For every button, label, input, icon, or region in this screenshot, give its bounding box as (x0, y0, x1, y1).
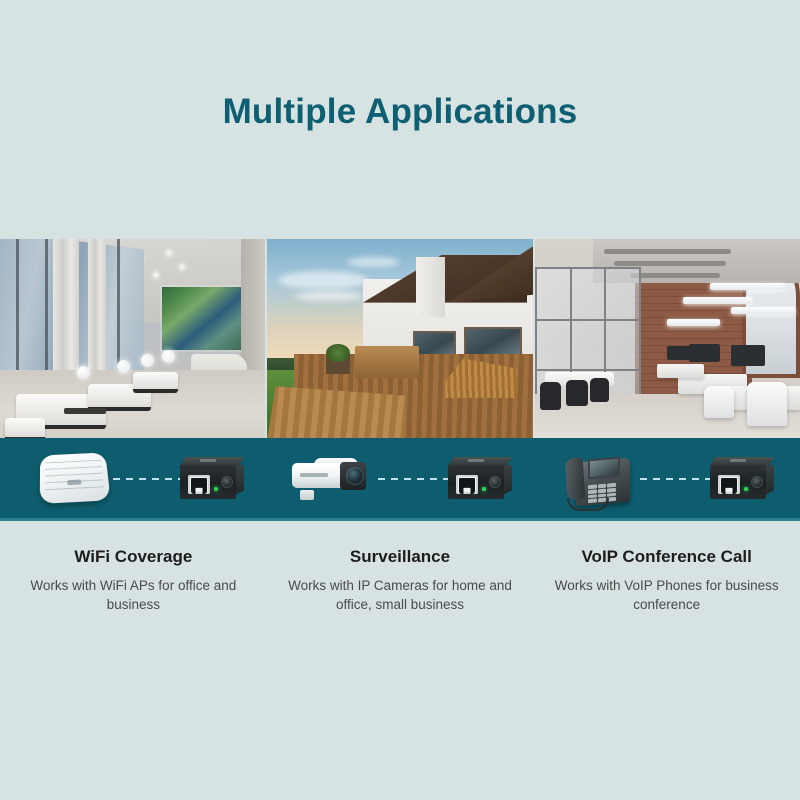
dashed-ethernet-link (378, 478, 450, 480)
patio-table-and-bench (355, 346, 419, 378)
caption-description: Works with VoIP Phones for business conf… (547, 576, 786, 614)
status-led-icon (744, 487, 748, 491)
house-chimney (416, 257, 445, 317)
ceiling-downlight-icon (154, 273, 158, 277)
lobby-coffee-table (64, 408, 106, 414)
office-desk (657, 364, 705, 378)
partition-mullion (537, 319, 639, 321)
linear-pendant-light-icon (731, 307, 795, 314)
poe-injector-icon (710, 457, 774, 499)
brand-logo-icon (300, 473, 328, 477)
dashed-ethernet-link (113, 478, 181, 480)
office-chair (747, 382, 787, 426)
ceiling-duct (604, 249, 731, 254)
application-captions: WiFi Coverage Works with WiFi APs for of… (0, 521, 800, 614)
desk-monitor (731, 345, 765, 367)
status-led-icon (214, 487, 218, 491)
status-led-icon (482, 487, 486, 491)
caption-title: WiFi Coverage (14, 547, 253, 567)
conference-chair (590, 378, 609, 402)
caption-surveillance: Surveillance Works with IP Cameras for h… (267, 521, 534, 614)
caption-description: Works with IP Cameras for home and offic… (281, 576, 520, 614)
camera-lens-icon (346, 467, 364, 485)
voip-phone-icon (562, 446, 636, 510)
caption-voip-conference-call: VoIP Conference Call Works with VoIP Pho… (533, 521, 800, 614)
brand-logo-icon (730, 459, 746, 462)
cloud (278, 271, 368, 289)
rj45-port-icon (718, 475, 740, 494)
cloud (294, 291, 363, 301)
office-chair (704, 386, 733, 418)
caption-title: VoIP Conference Call (547, 547, 786, 567)
device-group-voip-conference-call (536, 438, 800, 518)
poe-injector-icon (448, 457, 512, 499)
linear-pendant-light-icon (710, 283, 784, 290)
pendant-lamp-icon (162, 350, 175, 363)
caption-wifi-coverage: WiFi Coverage Works with WiFi APs for of… (0, 521, 267, 614)
wifi-access-point-icon (40, 452, 111, 504)
caption-title: Surveillance (281, 547, 520, 567)
application-photo-strip (0, 239, 800, 438)
phone-cord (567, 498, 609, 511)
desk-monitor (689, 344, 721, 362)
device-group-surveillance (268, 438, 535, 518)
lobby-wall-artwork (162, 287, 250, 351)
title-section: Multiple Applications (0, 0, 800, 238)
power-jack-icon (489, 476, 501, 488)
photo-modern-house-deck (267, 239, 532, 438)
device-diagram-band (0, 438, 800, 521)
brand-logo-icon (67, 480, 81, 486)
poe-injector-icon (180, 457, 244, 499)
photo-open-plan-loft-office (535, 239, 800, 438)
page-title: Multiple Applications (223, 92, 578, 132)
ceiling-duct (614, 261, 725, 266)
linear-pendant-light-icon (667, 319, 720, 326)
power-jack-icon (751, 476, 763, 488)
phone-handset (565, 457, 586, 500)
device-group-wifi-coverage (0, 438, 267, 518)
conference-chair (566, 380, 587, 406)
brand-logo-icon (200, 459, 216, 462)
ceiling-duct (630, 273, 720, 278)
dashed-ethernet-link (640, 478, 712, 480)
conference-chair (540, 382, 561, 410)
lobby-curtain (88, 239, 106, 378)
linear-pendant-light-icon (683, 297, 752, 304)
rj45-port-icon (188, 475, 210, 494)
caption-description: Works with WiFi APs for office and busin… (14, 576, 253, 614)
phone-screen (588, 457, 620, 480)
photo-modern-lobby-interior (0, 239, 265, 438)
partition-mullion (537, 369, 639, 371)
camera-mount-bracket (300, 490, 314, 500)
cloud (347, 257, 400, 267)
brand-logo-icon (468, 459, 484, 462)
rj45-port-icon (456, 475, 478, 494)
power-jack-icon (221, 476, 233, 488)
deck-shrub (326, 344, 350, 362)
lobby-armchair (5, 418, 45, 438)
pendant-lamp-icon (141, 354, 154, 367)
ip-camera-icon (288, 454, 372, 500)
lobby-sofa (133, 372, 178, 390)
desk-monitor (667, 346, 691, 360)
